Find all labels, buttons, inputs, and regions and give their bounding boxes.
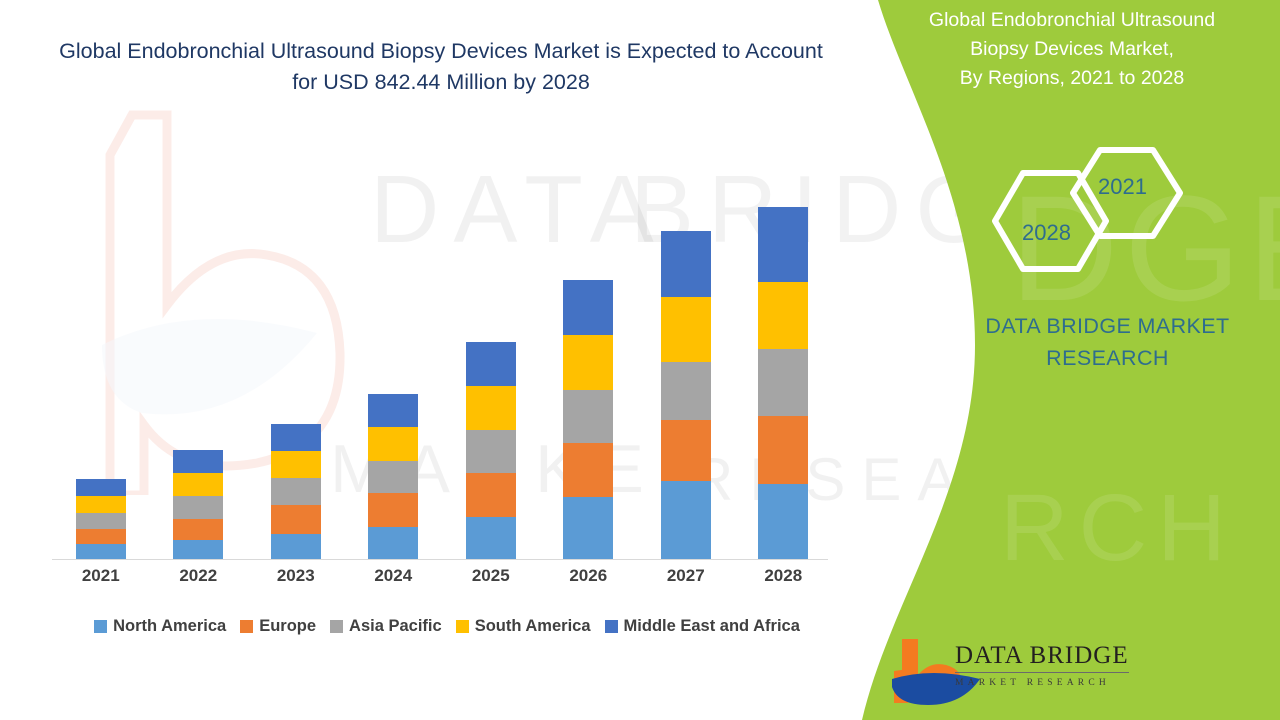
bar-segment[interactable] xyxy=(466,517,516,560)
logo-divider xyxy=(955,672,1129,673)
x-axis-labels: 20212022202320242025202620272028 xyxy=(52,566,832,596)
bar-segment[interactable] xyxy=(173,473,223,496)
legend-swatch-icon xyxy=(240,620,253,633)
bar-segment[interactable] xyxy=(368,461,418,493)
bar-segment[interactable] xyxy=(661,231,711,297)
bar-segment[interactable] xyxy=(758,484,808,560)
panel-title-line-3: By Regions, 2021 to 2028 xyxy=(872,64,1272,93)
bar-segment[interactable] xyxy=(368,493,418,527)
legend-swatch-icon xyxy=(456,620,469,633)
x-label-2021: 2021 xyxy=(53,566,149,586)
legend-swatch-icon xyxy=(94,620,107,633)
legend-label: North America xyxy=(113,617,226,636)
bar-group-2027[interactable] xyxy=(661,231,711,560)
panel-title: Global Endobronchial Ultrasound Biopsy D… xyxy=(872,6,1272,93)
bar-segment[interactable] xyxy=(76,529,126,544)
x-label-2023: 2023 xyxy=(248,566,344,586)
hexagon-badges xyxy=(975,145,1185,285)
bar-segment[interactable] xyxy=(466,430,516,473)
x-label-2024: 2024 xyxy=(345,566,441,586)
legend-swatch-icon xyxy=(605,620,618,633)
stacked-bar-chart xyxy=(52,150,832,560)
panel-brand-line-1: DATA BRIDGE MARKET xyxy=(935,310,1280,342)
bar-segment[interactable] xyxy=(661,420,711,481)
page-title: Global Endobronchial Ultrasound Biopsy D… xyxy=(46,36,836,98)
bar-segment[interactable] xyxy=(466,342,516,386)
logo-wordmark: DATA BRIDGE MARKET RESEARCH xyxy=(955,642,1129,688)
legend-label: South America xyxy=(475,617,591,636)
bar-segment[interactable] xyxy=(563,390,613,444)
bar-segment[interactable] xyxy=(661,297,711,362)
bar-segment[interactable] xyxy=(563,280,613,335)
hex-label-2028: 2028 xyxy=(1022,220,1071,246)
logo-sub-text: MARKET RESEARCH xyxy=(955,678,1129,688)
x-label-2022: 2022 xyxy=(150,566,246,586)
x-label-2027: 2027 xyxy=(638,566,734,586)
bar-segment[interactable] xyxy=(368,527,418,560)
bar-segment[interactable] xyxy=(76,513,126,529)
bar-segment[interactable] xyxy=(466,386,516,430)
bar-segment[interactable] xyxy=(271,451,321,479)
bar-group-2025[interactable] xyxy=(466,342,516,560)
panel-title-line-2: Biopsy Devices Market, xyxy=(872,35,1272,64)
bar-segment[interactable] xyxy=(661,481,711,560)
x-label-2028: 2028 xyxy=(735,566,831,586)
hex-label-2021: 2021 xyxy=(1098,174,1147,200)
bar-segment[interactable] xyxy=(368,427,418,461)
legend-label: Asia Pacific xyxy=(349,617,442,636)
bar-segment[interactable] xyxy=(466,473,516,516)
bar-group-2026[interactable] xyxy=(563,280,613,560)
x-axis-line xyxy=(52,559,828,560)
legend-item[interactable]: Middle East and Africa xyxy=(605,617,800,636)
chart-legend: North AmericaEuropeAsia PacificSouth Ame… xyxy=(52,617,842,636)
bar-segment[interactable] xyxy=(758,416,808,484)
bar-segment[interactable] xyxy=(271,424,321,451)
bar-group-2023[interactable] xyxy=(271,424,321,560)
bar-segment[interactable] xyxy=(76,544,126,559)
bar-segment[interactable] xyxy=(758,349,808,416)
bar-segment[interactable] xyxy=(173,496,223,519)
bar-group-2028[interactable] xyxy=(758,207,808,560)
panel-brand-text: DATA BRIDGE MARKET RESEARCH xyxy=(935,310,1280,374)
bar-group-2022[interactable] xyxy=(173,450,223,560)
x-label-2026: 2026 xyxy=(540,566,636,586)
bar-segment[interactable] xyxy=(563,497,613,560)
bar-segment[interactable] xyxy=(271,478,321,505)
logo-main-text: DATA BRIDGE xyxy=(955,642,1129,670)
bar-segment[interactable] xyxy=(758,207,808,282)
legend-item[interactable]: Europe xyxy=(240,617,316,636)
bar-segment[interactable] xyxy=(173,450,223,473)
bar-segment[interactable] xyxy=(271,534,321,560)
bar-segment[interactable] xyxy=(271,505,321,534)
bar-segment[interactable] xyxy=(76,496,126,512)
bar-segment[interactable] xyxy=(563,335,613,390)
bar-segment[interactable] xyxy=(173,540,223,560)
legend-item[interactable]: North America xyxy=(94,617,226,636)
bar-group-2021[interactable] xyxy=(76,479,126,560)
bar-segment[interactable] xyxy=(76,479,126,496)
bar-segment[interactable] xyxy=(661,362,711,420)
legend-item[interactable]: South America xyxy=(456,617,591,636)
bar-segment[interactable] xyxy=(173,519,223,541)
bar-segment[interactable] xyxy=(368,394,418,427)
bar-group-2024[interactable] xyxy=(368,394,418,560)
legend-label: Middle East and Africa xyxy=(624,617,800,636)
legend-item[interactable]: Asia Pacific xyxy=(330,617,442,636)
panel-title-line-1: Global Endobronchial Ultrasound xyxy=(872,6,1272,35)
bar-segment[interactable] xyxy=(758,282,808,349)
x-label-2025: 2025 xyxy=(443,566,539,586)
legend-label: Europe xyxy=(259,617,316,636)
legend-swatch-icon xyxy=(330,620,343,633)
bar-segment[interactable] xyxy=(563,443,613,497)
panel-brand-line-2: RESEARCH xyxy=(935,342,1280,374)
